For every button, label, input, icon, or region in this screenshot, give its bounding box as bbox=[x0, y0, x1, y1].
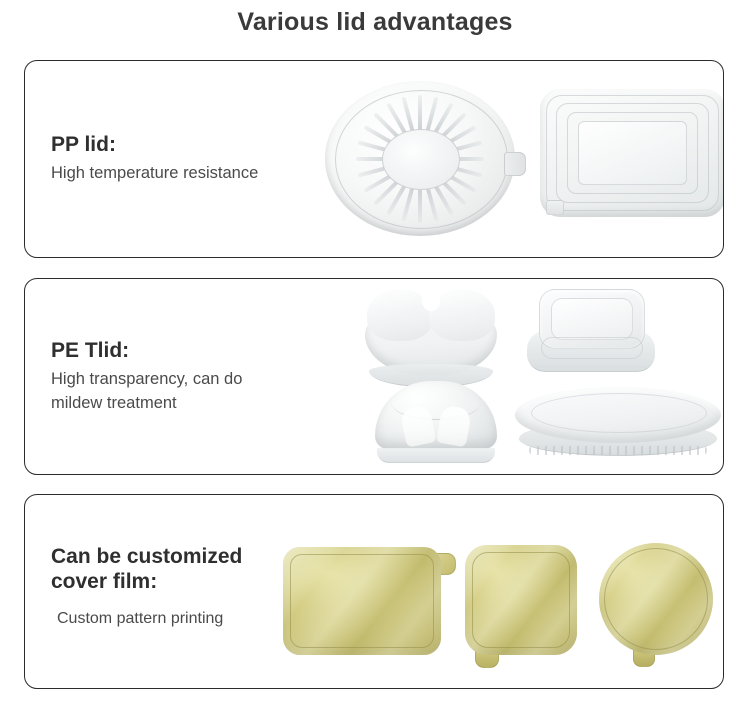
dome-pe-lid-base bbox=[377, 448, 495, 463]
gold-round-foil-lid-edge bbox=[604, 548, 708, 650]
oval-pe-lid-ridges bbox=[529, 446, 707, 455]
gold-square-foil-lid-image bbox=[465, 545, 577, 655]
square-pe-lid-image bbox=[527, 287, 655, 383]
round-pp-lid-rim bbox=[335, 90, 508, 228]
dome-pe-lid-highlight-left bbox=[399, 404, 436, 447]
dome-pe-lid-seam bbox=[391, 385, 481, 420]
panel-pe-tlid: PE Tlid: High transparency, can do milde… bbox=[24, 278, 724, 475]
square-pe-lid-top bbox=[539, 289, 645, 349]
gold-round-foil-lid-face bbox=[599, 543, 713, 655]
dome-pe-lid-highlight-right bbox=[436, 405, 472, 448]
panel-cover-film: Can be customized cover film: Custom pat… bbox=[24, 494, 724, 689]
gold-square-foil-lid-tab bbox=[475, 646, 499, 668]
oval-pe-lid-face bbox=[515, 387, 721, 443]
rectangular-pp-lid-center bbox=[578, 121, 687, 185]
square-pe-lid-flange bbox=[527, 331, 655, 372]
panel-pe-tlid-heading: PE Tlid: bbox=[51, 339, 242, 364]
rectangular-pp-lid-image bbox=[540, 89, 724, 217]
gold-square-foil-lid-edge bbox=[472, 552, 570, 648]
rectangular-pp-lid-body bbox=[540, 89, 724, 217]
gold-square-foil-lid-face bbox=[465, 545, 577, 655]
heart-pe-lid-lobe-right bbox=[429, 289, 495, 341]
dome-pe-lid-cap bbox=[375, 381, 497, 449]
square-pe-lid-step bbox=[541, 337, 643, 359]
oval-pe-lid-image bbox=[515, 387, 721, 459]
panel-cover-film-subtext: Custom pattern printing bbox=[51, 607, 242, 630]
panel-pe-tlid-subtext: High transparency, can do mildew treatme… bbox=[51, 368, 242, 416]
panel-pp-lid: PP lid: High temperature resistance bbox=[24, 60, 724, 258]
panel-pp-lid-heading: PP lid: bbox=[51, 133, 258, 158]
panel-cover-film-text: Can be customized cover film: Custom pat… bbox=[51, 545, 242, 630]
gold-round-foil-lid-tab bbox=[633, 646, 655, 667]
square-pe-lid-inner-panel bbox=[551, 298, 633, 340]
panel-pp-lid-text: PP lid: High temperature resistance bbox=[51, 133, 258, 186]
oval-pe-lid-skirt bbox=[519, 421, 717, 456]
heart-pe-lid-skirt bbox=[369, 364, 493, 387]
panel-pe-tlid-text: PE Tlid: High transparency, can do milde… bbox=[51, 339, 242, 416]
gold-rectangular-foil-lid-sheen bbox=[283, 547, 441, 655]
heart-pe-lid-image bbox=[365, 289, 497, 389]
gold-round-foil-lid-image bbox=[599, 543, 713, 655]
dome-pe-lid-image bbox=[375, 381, 497, 463]
rectangular-pp-lid-tab bbox=[546, 200, 564, 215]
heart-pe-lid-body bbox=[365, 303, 497, 375]
panel-pp-lid-subtext: High temperature resistance bbox=[51, 162, 258, 186]
gold-rectangular-foil-lid-face bbox=[283, 547, 441, 655]
gold-round-foil-lid-sheen bbox=[599, 543, 713, 655]
rectangular-pp-lid-ridge-3 bbox=[567, 112, 698, 194]
round-pp-lid-center bbox=[382, 129, 460, 190]
page-title: Various lid advantages bbox=[0, 8, 750, 37]
rectangular-pp-lid-ridge-2 bbox=[556, 103, 709, 203]
gold-rectangular-foil-lid-tab bbox=[428, 553, 456, 575]
round-pp-lid-tab bbox=[504, 152, 526, 176]
heart-pe-lid-notch bbox=[422, 291, 440, 311]
gold-rectangular-foil-lid-edge bbox=[290, 554, 434, 648]
rectangular-pp-lid-ridge-1 bbox=[546, 95, 719, 211]
heart-pe-lid-lobe-left bbox=[367, 289, 433, 341]
panel-cover-film-heading: Can be customized cover film: bbox=[51, 545, 242, 595]
oval-pe-lid-inset bbox=[531, 393, 707, 433]
round-pp-lid-body bbox=[325, 81, 515, 236]
gold-rectangular-foil-lid-image bbox=[283, 547, 441, 655]
round-pp-lid-ribs bbox=[325, 81, 515, 236]
round-pp-lid-image bbox=[325, 81, 515, 236]
gold-square-foil-lid-sheen bbox=[465, 545, 577, 655]
